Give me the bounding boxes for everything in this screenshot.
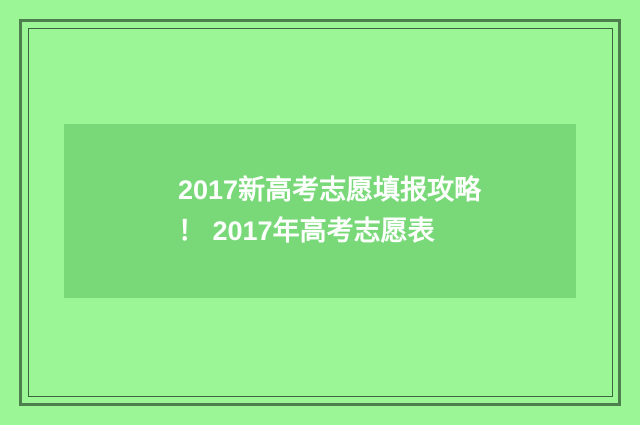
banner-title: 2017新高考志愿填报攻略 ！ 2017年高考志愿表 — [178, 170, 558, 252]
banner-title-line-1: 2017新高考志愿填报攻略 — [178, 170, 558, 211]
banner-title-line-2: ！ 2017年高考志愿表 — [178, 211, 558, 252]
banner-graphic: 2017新高考志愿填报攻略 ！ 2017年高考志愿表 — [0, 0, 640, 425]
